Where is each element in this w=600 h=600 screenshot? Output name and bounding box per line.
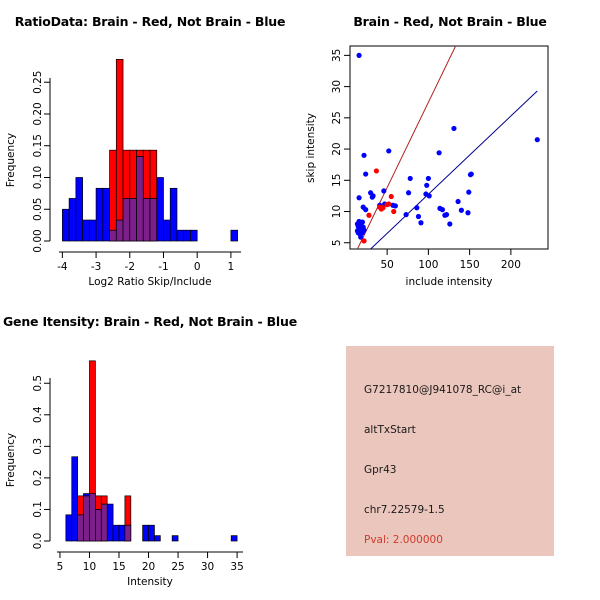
x-tick-label: -2 xyxy=(125,261,135,273)
scatter-plot-frame xyxy=(350,46,548,249)
scatter-point-not-brain xyxy=(361,228,366,233)
scatter-point-not-brain xyxy=(404,212,409,217)
info-gene-symbol: Gpr43 xyxy=(364,464,396,476)
scatter-point-not-brain xyxy=(416,214,421,219)
panel-intensity-scatter: Brain - Red, Not Brain - Blue 5101520253… xyxy=(300,0,600,300)
y-tick-label: 0.00 xyxy=(32,229,44,252)
scatter-points xyxy=(355,53,540,244)
hist-bar-not-brain xyxy=(163,220,170,241)
y-tick-label: 0.2 xyxy=(32,470,44,487)
scatter-point-brain xyxy=(385,202,390,207)
scatter-point-not-brain xyxy=(371,193,376,198)
hist-bar-not-brain xyxy=(172,536,178,541)
scatter-point-not-brain xyxy=(444,212,449,217)
hist-bar-not-brain xyxy=(107,504,113,541)
y-tick-label: 0.10 xyxy=(32,166,44,189)
hist-bar-brain xyxy=(116,59,123,220)
x-tick-label: -3 xyxy=(91,261,101,273)
scatter-point-not-brain xyxy=(414,205,419,210)
scatter-point-not-brain xyxy=(381,188,386,193)
hist-bar-not-brain xyxy=(66,515,72,541)
figure-canvas: RatioData: Brain - Red, Not Brain - Blue… xyxy=(0,0,600,600)
ratio-y-axis-label: Frequency xyxy=(5,133,17,187)
scatter-point-brain xyxy=(374,168,379,173)
scatter-point-not-brain xyxy=(406,190,411,195)
hist-bar-not-brain xyxy=(89,220,96,241)
scatter-point-not-brain xyxy=(451,126,456,131)
scatter-reference-lines xyxy=(357,46,537,249)
x-tick-label: 50 xyxy=(380,259,393,271)
info-pval: Pval: 2.000000 xyxy=(364,534,443,546)
hist-bar-overlap xyxy=(150,198,157,241)
scatter-x-ticks: 50100150200 xyxy=(380,249,520,271)
panel-ratio-histogram: RatioData: Brain - Red, Not Brain - Blue… xyxy=(0,0,300,300)
scatter-point-not-brain xyxy=(427,193,432,198)
y-tick-label: 30 xyxy=(331,80,343,93)
hist-bar-not-brain xyxy=(72,457,78,541)
hist-bar-not-brain xyxy=(231,536,237,541)
scatter-point-not-brain xyxy=(356,53,361,58)
hist-bar-not-brain xyxy=(84,494,90,496)
hist-bar-brain xyxy=(123,150,130,198)
scatter-point-not-brain xyxy=(386,148,391,153)
ratio-histogram-svg: 0.000.050.100.150.200.25 -4-3-2-101 Log2… xyxy=(0,0,300,300)
hist-bar-not-brain xyxy=(154,536,160,541)
scatter-point-not-brain xyxy=(466,190,471,195)
hist-bar-overlap xyxy=(125,525,131,541)
hist-bar-not-brain xyxy=(62,209,69,241)
y-tick-label: 0.20 xyxy=(32,102,44,125)
y-tick-label: 25 xyxy=(331,111,343,124)
x-tick-label: 30 xyxy=(201,561,214,573)
hist-bar-brain xyxy=(110,150,117,230)
hist-bar-not-brain xyxy=(83,220,90,241)
y-tick-label: 15 xyxy=(331,174,343,187)
scatter-point-not-brain xyxy=(455,199,460,204)
panel-gene-intensity-histogram: Gene Itensity: Brain - Red, Not Brain - … xyxy=(0,300,300,600)
scatter-svg: 5101520253035 50100150200 include intens… xyxy=(300,0,600,300)
hist-bar-overlap xyxy=(137,157,144,241)
y-tick-label: 0.0 xyxy=(32,533,44,550)
scatter-point-brain xyxy=(389,194,394,199)
scatter-point-not-brain xyxy=(459,208,464,213)
hist-bar-brain xyxy=(143,150,150,198)
ratio-y-ticks: 0.000.050.100.150.200.25 xyxy=(32,71,50,253)
hist-bar-not-brain xyxy=(231,230,238,241)
scatter-point-not-brain xyxy=(393,203,398,208)
hist-bar-brain xyxy=(89,361,95,494)
scatter-point-not-brain xyxy=(408,176,413,181)
hist-bar-not-brain xyxy=(149,525,155,541)
hist-bar-not-brain xyxy=(190,230,197,241)
scatter-x-axis-label: include intensity xyxy=(406,276,493,288)
scatter-point-brain xyxy=(380,205,385,210)
gene-x-ticks: 5101520253035 xyxy=(57,552,244,573)
scatter-point-not-brain xyxy=(440,207,445,212)
y-tick-label: 0.05 xyxy=(32,198,44,221)
hist-bar-brain xyxy=(125,496,131,525)
hist-bar-not-brain xyxy=(69,198,76,241)
gene-x-axis-label: Intensity xyxy=(127,576,173,588)
scatter-point-not-brain xyxy=(535,137,540,142)
ratio-x-axis-label: Log2 Ratio Skip/Include xyxy=(88,276,211,288)
y-tick-label: 35 xyxy=(331,49,343,62)
hist-bar-overlap xyxy=(130,198,137,241)
y-tick-label: 5 xyxy=(331,239,343,246)
hist-bar-not-brain xyxy=(76,177,83,241)
x-tick-label: 15 xyxy=(112,561,125,573)
x-tick-label: -4 xyxy=(57,261,68,273)
y-tick-label: 0.5 xyxy=(32,375,44,392)
info-probe-id: G7217810@J941078_RC@i_at xyxy=(364,384,521,396)
hist-bar-not-brain xyxy=(119,525,125,541)
red-reference-line xyxy=(357,46,455,249)
panel-gene-info: G7217810@J941078_RC@i_at altTxStart Gpr4… xyxy=(300,300,600,600)
scatter-point-not-brain xyxy=(465,210,470,215)
gene-histogram-bars xyxy=(66,361,237,541)
y-tick-label: 10 xyxy=(331,205,343,218)
scatter-point-not-brain xyxy=(363,171,368,176)
info-locus: chr7.22579-1.5 xyxy=(364,504,445,516)
scatter-point-brain xyxy=(391,209,396,214)
hist-bar-overlap xyxy=(110,230,117,241)
x-tick-label: 35 xyxy=(230,561,243,573)
scatter-point-not-brain xyxy=(361,153,366,158)
hist-bar-not-brain xyxy=(103,188,110,241)
hist-bar-brain xyxy=(95,496,101,510)
hist-bar-overlap xyxy=(116,220,123,241)
scatter-point-not-brain xyxy=(418,220,423,225)
hist-bar-brain xyxy=(78,496,84,515)
y-tick-label: 0.25 xyxy=(32,71,44,94)
scatter-point-not-brain xyxy=(424,183,429,188)
x-tick-label: 5 xyxy=(57,561,64,573)
y-tick-label: 20 xyxy=(331,142,343,155)
scatter-point-not-brain xyxy=(447,221,452,226)
gene-y-axis-label: Frequency xyxy=(5,433,17,487)
scatter-y-axis-label: skip intensity xyxy=(305,113,317,183)
x-tick-label: 10 xyxy=(83,561,96,573)
y-tick-label: 0.4 xyxy=(32,406,44,423)
hist-bar-overlap xyxy=(84,496,90,541)
scatter-point-not-brain xyxy=(437,150,442,155)
scatter-point-not-brain xyxy=(426,176,431,181)
x-tick-label: 100 xyxy=(418,259,438,271)
y-tick-label: 0.15 xyxy=(32,134,44,157)
scatter-point-brain xyxy=(361,238,366,243)
scatter-point-not-brain xyxy=(363,207,368,212)
hist-bar-brain xyxy=(137,150,144,156)
x-tick-label: 200 xyxy=(501,259,521,271)
hist-bar-not-brain xyxy=(96,188,103,241)
scatter-point-not-brain xyxy=(360,220,365,225)
ratio-x-ticks: -4-3-2-101 xyxy=(57,252,234,273)
hist-bar-brain xyxy=(101,496,107,504)
x-tick-label: 150 xyxy=(460,259,480,271)
hist-bar-not-brain xyxy=(177,230,184,241)
gene-info-card: G7217810@J941078_RC@i_at altTxStart Gpr4… xyxy=(346,346,554,556)
gene-y-ticks: 0.00.10.20.30.40.5 xyxy=(32,375,50,549)
hist-bar-brain xyxy=(150,150,157,198)
ratio-histogram-bars xyxy=(62,59,237,241)
scatter-point-not-brain xyxy=(469,171,474,176)
hist-bar-overlap xyxy=(101,504,107,541)
gene-histogram-svg: 0.00.10.20.30.40.5 5101520253035 Intensi… xyxy=(0,300,300,600)
x-tick-label: 25 xyxy=(171,561,184,573)
hist-bar-not-brain xyxy=(157,177,164,241)
x-tick-label: 0 xyxy=(194,261,201,273)
scatter-y-ticks: 5101520253035 xyxy=(331,49,350,246)
hist-bar-not-brain xyxy=(113,525,119,541)
hist-bar-overlap xyxy=(89,494,95,541)
scatter-point-not-brain xyxy=(356,195,361,200)
hist-bar-not-brain xyxy=(143,525,149,541)
hist-bar-not-brain xyxy=(184,230,191,241)
hist-bar-overlap xyxy=(143,198,150,241)
y-tick-label: 0.1 xyxy=(32,501,44,518)
x-tick-label: 1 xyxy=(228,261,235,273)
hist-bar-not-brain xyxy=(170,188,177,241)
y-tick-label: 0.3 xyxy=(32,438,44,455)
x-tick-label: 20 xyxy=(142,561,155,573)
scatter-point-brain xyxy=(366,213,371,218)
hist-bar-brain xyxy=(130,150,137,198)
info-event-type: altTxStart xyxy=(364,424,416,436)
x-tick-label: -1 xyxy=(158,261,168,273)
hist-bar-overlap xyxy=(123,198,130,241)
hist-bar-overlap xyxy=(95,509,101,541)
hist-bar-overlap xyxy=(78,515,84,541)
scatter-point-not-brain xyxy=(355,228,360,233)
